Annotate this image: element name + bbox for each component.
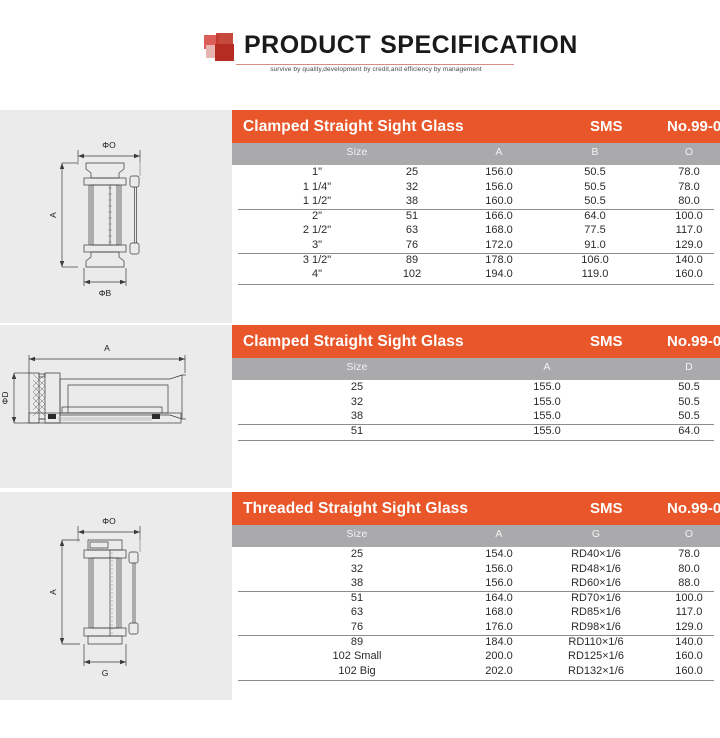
cell-a: 160.0 [454, 195, 544, 207]
table-number: No.99-01 [667, 118, 720, 135]
spec-table-2: Clamped Straight Sight Glass SMS No.99-0… [232, 325, 720, 488]
cell-inch: 3 1/2" [262, 254, 372, 266]
cell-a: 172.0 [454, 239, 544, 251]
column-header-size: Size [262, 146, 452, 158]
cell-a: 156.0 [454, 181, 544, 193]
table-row: 1"25156.050.578.0 [232, 166, 720, 181]
cell-size: 51 [262, 592, 452, 604]
dim-label-bottom: ΦB [99, 288, 112, 298]
cell-mm: 38 [372, 195, 452, 207]
table-row: 32156.0RD48×1/680.0 [232, 563, 720, 578]
table-row: 38155.050.5 [232, 410, 720, 425]
dim-label-left: ΦD [0, 392, 10, 405]
table-title: Clamped Straight Sight Glass [243, 118, 464, 136]
cell-size: 38 [262, 577, 452, 589]
cell-o: 160.0 [644, 268, 720, 280]
cell-inch: 4" [262, 268, 372, 280]
drawing-clamped-straight-sight-glass-vertical: ΦO ΦB A [0, 110, 232, 323]
cell-d: 50.5 [644, 396, 720, 408]
cell-o: 117.0 [644, 606, 720, 618]
cell-inch: 1" [262, 166, 372, 178]
column-header-g: G [532, 528, 660, 540]
cell-o: 117.0 [644, 224, 720, 236]
cell-size: 25 [262, 381, 452, 393]
column-header-a: A [454, 361, 640, 373]
table-row: 63168.0RD85×1/6117.0 [232, 606, 720, 621]
table-column-headers-1: Size A B O [232, 143, 720, 165]
cell-g: RD98×1/6 [532, 621, 660, 633]
table-title-bar-3: Threaded Straight Sight Glass SMS No.99-… [232, 492, 720, 525]
title-word-product: PRODUCT [244, 31, 371, 59]
cell-a: 200.0 [454, 650, 544, 662]
table-row: 3 1/2"89178.0106.0140.0 [232, 254, 720, 269]
table-body-2: 25155.050.532155.050.538155.050.551155.0… [232, 380, 720, 439]
cell-a: 156.0 [454, 577, 544, 589]
table-number: No.99-02 [667, 333, 720, 350]
cell-inch: 3" [262, 239, 372, 251]
dim-label-top: ΦO [102, 140, 116, 150]
table-row: 1 1/4"32156.050.578.0 [232, 181, 720, 196]
table-row: 51155.064.0 [232, 425, 720, 440]
cell-g: RD132×1/6 [532, 665, 660, 677]
cell-g: RD60×1/6 [532, 577, 660, 589]
cell-a: 164.0 [454, 592, 544, 604]
company-logo-icon [204, 33, 240, 65]
cell-size: 76 [262, 621, 452, 633]
cell-g: RD125×1/6 [532, 650, 660, 662]
cell-size: 102 Small [262, 650, 452, 662]
cell-d: 50.5 [644, 381, 720, 393]
drawing-clamped-straight-sight-glass-horizontal: A ΦD [0, 325, 232, 488]
dim-label-top: A [104, 343, 110, 353]
table-row: 102 Small200.0RD125×1/6160.0 [232, 650, 720, 665]
cell-mm: 63 [372, 224, 452, 236]
page-title: PRODUCTSPECIFICATION [244, 31, 578, 60]
cell-b: 64.0 [550, 210, 640, 222]
cell-a: 156.0 [454, 563, 544, 575]
cell-size: 51 [262, 425, 452, 437]
cell-a: 155.0 [454, 425, 640, 437]
cell-b: 106.0 [550, 254, 640, 266]
table-row: 51164.0RD70×1/6100.0 [232, 592, 720, 607]
cell-a: 155.0 [454, 410, 640, 422]
cell-o: 129.0 [644, 621, 720, 633]
column-header-size: Size [262, 528, 452, 540]
cell-mm: 51 [372, 210, 452, 222]
table-standard: SMS [590, 500, 623, 517]
cell-b: 77.5 [550, 224, 640, 236]
cell-mm: 76 [372, 239, 452, 251]
cell-o: 140.0 [644, 254, 720, 266]
table-number: No.99-03 [667, 500, 720, 517]
cell-size: 89 [262, 636, 452, 648]
cell-a: 184.0 [454, 636, 544, 648]
cell-size: 102 Big [262, 665, 452, 677]
cell-size: 32 [262, 563, 452, 575]
column-header-o: O [644, 528, 720, 540]
cell-a: 155.0 [454, 396, 640, 408]
table-row: 2"51166.064.0100.0 [232, 210, 720, 225]
cell-g: RD85×1/6 [532, 606, 660, 618]
cell-b: 50.5 [550, 166, 640, 178]
cell-mm: 102 [372, 268, 452, 280]
table-body-3: 25154.0RD40×1/678.032156.0RD48×1/680.038… [232, 547, 720, 679]
table-title-bar-1: Clamped Straight Sight Glass SMS No.99-0… [232, 110, 720, 143]
dim-label-left: A [48, 212, 58, 218]
cell-o: 80.0 [644, 563, 720, 575]
column-header-o: O [644, 146, 720, 158]
cell-mm: 25 [372, 166, 452, 178]
cell-o: 78.0 [644, 181, 720, 193]
cell-a: 194.0 [454, 268, 544, 280]
cell-inch: 2" [262, 210, 372, 222]
spec-block-2: A ΦD Clamped Straight Sight Glass SMS No… [0, 325, 720, 488]
drawing-panel-2: A ΦD [0, 325, 232, 488]
column-header-b: B [550, 146, 640, 158]
drawing-panel-1: ΦO ΦB A [0, 110, 232, 323]
cell-size: 63 [262, 606, 452, 618]
table-row: 89184.0RD110×1/6140.0 [232, 636, 720, 651]
cell-o: 100.0 [644, 592, 720, 604]
cell-a: 166.0 [454, 210, 544, 222]
product-specification-page: PRODUCTSPECIFICATION survive by quality,… [0, 0, 720, 738]
cell-o: 140.0 [644, 636, 720, 648]
cell-a: 168.0 [454, 606, 544, 618]
drawing-panel-3: ΦO G A [0, 492, 232, 700]
table-title-bar-2: Clamped Straight Sight Glass SMS No.99-0… [232, 325, 720, 358]
spec-table-3: Threaded Straight Sight Glass SMS No.99-… [232, 492, 720, 700]
table-title: Threaded Straight Sight Glass [243, 500, 468, 518]
cell-o: 160.0 [644, 650, 720, 662]
table-row: 76176.0RD98×1/6129.0 [232, 621, 720, 636]
title-divider [236, 64, 514, 65]
cell-b: 50.5 [550, 181, 640, 193]
column-header-a: A [454, 528, 544, 540]
table-column-headers-2: Size A D [232, 358, 720, 380]
cell-b: 91.0 [550, 239, 640, 251]
spec-block-3: ΦO G A Threaded Straight Sight Glass SMS… [0, 492, 720, 700]
dim-label-top: ΦO [102, 516, 116, 526]
cell-size: 38 [262, 410, 452, 422]
company-tagline: survive by quality,development by credit… [236, 66, 516, 73]
cell-o: 100.0 [644, 210, 720, 222]
cell-o: 160.0 [644, 665, 720, 677]
table-row: 3"76172.091.0129.0 [232, 239, 720, 254]
table-row: 102 Big202.0RD132×1/6160.0 [232, 665, 720, 680]
spec-block-1: ΦO ΦB A Clamped Straight Sight Glass SMS… [0, 110, 720, 323]
cell-o: 78.0 [644, 166, 720, 178]
table-row: 25154.0RD40×1/678.0 [232, 548, 720, 563]
dim-label-left: A [48, 589, 58, 595]
cell-o: 80.0 [644, 195, 720, 207]
cell-a: 154.0 [454, 548, 544, 560]
title-word-specification: SPECIFICATION [380, 31, 578, 59]
column-header-d: D [644, 361, 720, 373]
column-header-size: Size [262, 361, 452, 373]
table-standard: SMS [590, 333, 623, 350]
cell-inch: 1 1/2" [262, 195, 372, 207]
table-row: 4"102194.0119.0160.0 [232, 268, 720, 283]
cell-a: 155.0 [454, 381, 640, 393]
cell-inch: 2 1/2" [262, 224, 372, 236]
cell-b: 119.0 [550, 268, 640, 280]
cell-g: RD110×1/6 [532, 636, 660, 648]
table-row: 2 1/2"63168.077.5117.0 [232, 224, 720, 239]
cell-g: RD40×1/6 [532, 548, 660, 560]
cell-o: 88.0 [644, 577, 720, 589]
page-header: PRODUCTSPECIFICATION survive by quality,… [0, 0, 720, 110]
cell-size: 32 [262, 396, 452, 408]
logo-square-4 [215, 44, 234, 61]
table-column-headers-3: Size A G O [232, 525, 720, 547]
table-row: 32155.050.5 [232, 396, 720, 411]
column-header-a: A [454, 146, 544, 158]
cell-a: 202.0 [454, 665, 544, 677]
cell-mm: 32 [372, 181, 452, 193]
cell-inch: 1 1/4" [262, 181, 372, 193]
cell-o: 78.0 [644, 548, 720, 560]
cell-d: 50.5 [644, 410, 720, 422]
dim-label-bottom: G [102, 668, 109, 678]
cell-size: 25 [262, 548, 452, 560]
cell-a: 178.0 [454, 254, 544, 266]
table-body-1: 1"25156.050.578.01 1/4"32156.050.578.01 … [232, 165, 720, 283]
cell-g: RD70×1/6 [532, 592, 660, 604]
cell-a: 168.0 [454, 224, 544, 236]
table-row: 38156.0RD60×1/688.0 [232, 577, 720, 592]
cell-a: 156.0 [454, 166, 544, 178]
cell-b: 50.5 [550, 195, 640, 207]
drawing-threaded-straight-sight-glass-vertical: ΦO G A [0, 492, 232, 700]
cell-g: RD48×1/6 [532, 563, 660, 575]
cell-a: 176.0 [454, 621, 544, 633]
table-row: 1 1/2"38160.050.580.0 [232, 195, 720, 210]
cell-d: 64.0 [644, 425, 720, 437]
table-title: Clamped Straight Sight Glass [243, 333, 464, 351]
table-standard: SMS [590, 118, 623, 135]
spec-table-1: Clamped Straight Sight Glass SMS No.99-0… [232, 110, 720, 323]
table-row: 25155.050.5 [232, 381, 720, 396]
cell-o: 129.0 [644, 239, 720, 251]
cell-mm: 89 [372, 254, 452, 266]
